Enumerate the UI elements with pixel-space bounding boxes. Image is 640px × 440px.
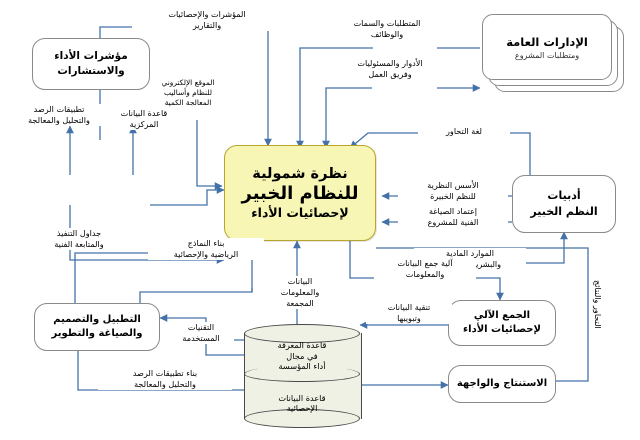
label-line2: للنظام وأساليب bbox=[164, 88, 212, 97]
label-line1: تنقية البيانات bbox=[388, 302, 431, 312]
node-label-line1: الجمع الآلي bbox=[474, 309, 530, 324]
node-label-line2: النظم الخبير bbox=[530, 204, 597, 220]
edge-label-technical-formulation: إعتماد الصياغة الفنية للمشروع bbox=[398, 206, 508, 228]
label-line2: الرياضية والإحصائية bbox=[174, 249, 238, 259]
label-line1: المؤشرات والإحصائيات bbox=[168, 9, 245, 19]
label-line1: جداول التنفيذ bbox=[57, 228, 101, 238]
edge-label-electronic-site: الموقع الإلكتروني للنظام وأساليب المعالج… bbox=[152, 78, 224, 108]
label-line1: قاعدة البيانات bbox=[121, 108, 168, 118]
label-line1: لغة التحاور bbox=[446, 126, 482, 136]
node-label-line2: لإحصائيات الأداء bbox=[463, 323, 541, 338]
edge-label-techniques-used: التقنيات المستخدمة bbox=[168, 322, 234, 344]
hub-label-line2: للنظام الخبير bbox=[242, 183, 359, 204]
label-line2: الفنية للمشروع bbox=[428, 217, 479, 227]
edge-label-dialogue-results: التحاور والنتائج bbox=[590, 258, 604, 350]
label-line2: والمعلومات bbox=[281, 287, 320, 297]
node-label-line2: والاستشارات bbox=[57, 64, 124, 79]
label-line2: للنظم الخبيرة bbox=[430, 191, 476, 201]
edge-label-execution-schedules: جداول التنفيذ والمتابعة الفنية bbox=[30, 228, 128, 250]
diagram-canvas: مؤشرات الأداء والاستشارات الإدارات العام… bbox=[0, 0, 640, 440]
node-label-line1: التطبيل والتصميم bbox=[53, 313, 141, 328]
label-line2: والمعلومات bbox=[406, 269, 445, 279]
label-line3: المجمعة bbox=[286, 298, 314, 308]
edge-label-building-monitoring-apps: بناء تطبيقات الرصد والتحليل والمعالجة bbox=[98, 368, 232, 390]
wire-esite-to-hub bbox=[197, 120, 222, 186]
node-database-cylinder[interactable]: قاعدة المعرفة في مجال أداء المؤسسة قاعدة… bbox=[244, 324, 360, 428]
edge-label-collected-data: البيانات والمعلومات المجمعة bbox=[272, 276, 328, 309]
stack-sheet-front: الإدارات العامة ومتطلبات المشروع bbox=[482, 14, 612, 80]
node-automatic-collection[interactable]: الجمع الآلي لإحصائيات الأداء bbox=[448, 300, 556, 346]
label-line1: الموقع الإلكتروني bbox=[162, 78, 215, 87]
db-lower-line2: الإحصائية bbox=[287, 403, 318, 413]
db-upper-line1: قاعدة المعرفة bbox=[278, 340, 327, 350]
db-lower-line1: قاعدة البيانات bbox=[278, 393, 325, 403]
label-line1: الأسس النظرية bbox=[427, 180, 478, 190]
label-line2: والوظائف bbox=[371, 29, 403, 39]
edge-label-data-collection-mechanism: آلية جمع البيانات والمعلومات bbox=[374, 258, 476, 280]
node-label-line1: الاستنتاج والواجهة bbox=[457, 377, 547, 392]
hub-label-line3: لإحصائيات الأداء bbox=[251, 205, 348, 220]
edge-label-data-cleaning: تنقية البيانات وتبويبها bbox=[366, 302, 452, 324]
label-line1: تطبيقات الرصد bbox=[34, 104, 85, 114]
wire-roles-bracket bbox=[326, 88, 372, 94]
edge-label-building-models: بناء النماذج الرياضية والإحصائية bbox=[148, 238, 264, 260]
node-label-line1: الإدارات العامة bbox=[506, 35, 588, 49]
edge-label-theoretical-foundations: الأسس النظرية للنظم الخبيرة bbox=[398, 180, 508, 202]
label-line2: والتقارير bbox=[193, 20, 221, 30]
node-design-development[interactable]: التطبيل والتصميم والصياغة والتطوير bbox=[34, 303, 160, 351]
label-line1: البيانات bbox=[288, 276, 312, 286]
label-line1: التحاور والنتائج bbox=[593, 280, 603, 329]
hub-label-line1: نظرة شمولية bbox=[252, 166, 347, 182]
label-line1: بناء النماذج bbox=[188, 238, 225, 248]
label-line1: الموارد المادية bbox=[446, 248, 494, 258]
node-label-line2: ومتطلبات المشروع bbox=[515, 51, 579, 60]
label-line2: المستخدمة bbox=[182, 333, 219, 343]
label-line1: التقنيات bbox=[188, 322, 214, 332]
wire-dialogue-to-hub bbox=[350, 133, 530, 175]
label-line3: المعالجة الكمية bbox=[165, 98, 212, 107]
edge-label-indicators-statistics-reports: المؤشرات والإحصائيات والتقارير bbox=[132, 9, 282, 31]
edge-label-central-database: قاعدة البيانات المركزية bbox=[104, 108, 184, 130]
label-line1: الأدوار والمسئوليات bbox=[357, 58, 422, 68]
edge-label-requirements-features-functions: المتطلبات والسمات والوظائف bbox=[330, 18, 444, 40]
db-upper-line2: في مجال bbox=[286, 351, 317, 361]
node-label-line2: والصياغة والتطوير bbox=[52, 327, 143, 342]
db-upper-line3: أداء المؤسسة bbox=[279, 361, 326, 371]
label-line2: والمتابعة الفنية bbox=[54, 239, 103, 249]
node-label-line1: أدبيات bbox=[547, 188, 580, 204]
label-line1: إعتماد الصياغة bbox=[429, 206, 477, 216]
edge-label-dialogue-language: لغة التحاور bbox=[418, 126, 510, 137]
node-performance-indicators[interactable]: مؤشرات الأداء والاستشارات bbox=[32, 38, 150, 90]
label-line2: والتحليل والمعالجة bbox=[134, 379, 196, 389]
label-line1: آلية جمع البيانات bbox=[397, 258, 452, 268]
label-line2: وفريق العمل bbox=[368, 69, 411, 79]
node-label-line1: مؤشرات الأداء bbox=[54, 49, 128, 64]
node-central-hub[interactable]: نظرة شمولية للنظام الخبير لإحصائيات الأد… bbox=[224, 145, 376, 241]
wire-indicators-to-hub bbox=[150, 190, 224, 205]
label-line2: وتبويبها bbox=[397, 313, 421, 323]
node-inference-interface[interactable]: الاستنتاج والواجهة bbox=[448, 365, 556, 403]
label-line2: والتحليل والمعالجة bbox=[28, 115, 90, 125]
edge-label-monitoring-applications: تطبيقات الرصد والتحليل والمعالجة bbox=[6, 104, 112, 126]
node-general-administrations[interactable]: الإدارات العامة ومتطلبات المشروع bbox=[482, 14, 612, 80]
database-statistical-label: قاعدة البيانات الإحصائية bbox=[244, 393, 360, 414]
wire-models-seg bbox=[140, 288, 252, 305]
database-knowledge-label: قاعدة المعرفة في مجال أداء المؤسسة bbox=[244, 340, 360, 372]
label-line2: المركزية bbox=[130, 119, 159, 129]
node-expert-systems-literature[interactable]: أدبيات النظم الخبير bbox=[512, 175, 616, 233]
edge-label-roles-responsibilities-team: الأدوار والمسئوليات وفريق العمل bbox=[336, 58, 444, 80]
label-line1: بناء تطبيقات الرصد bbox=[133, 368, 197, 378]
label-line1: المتطلبات والسمات bbox=[354, 18, 421, 28]
